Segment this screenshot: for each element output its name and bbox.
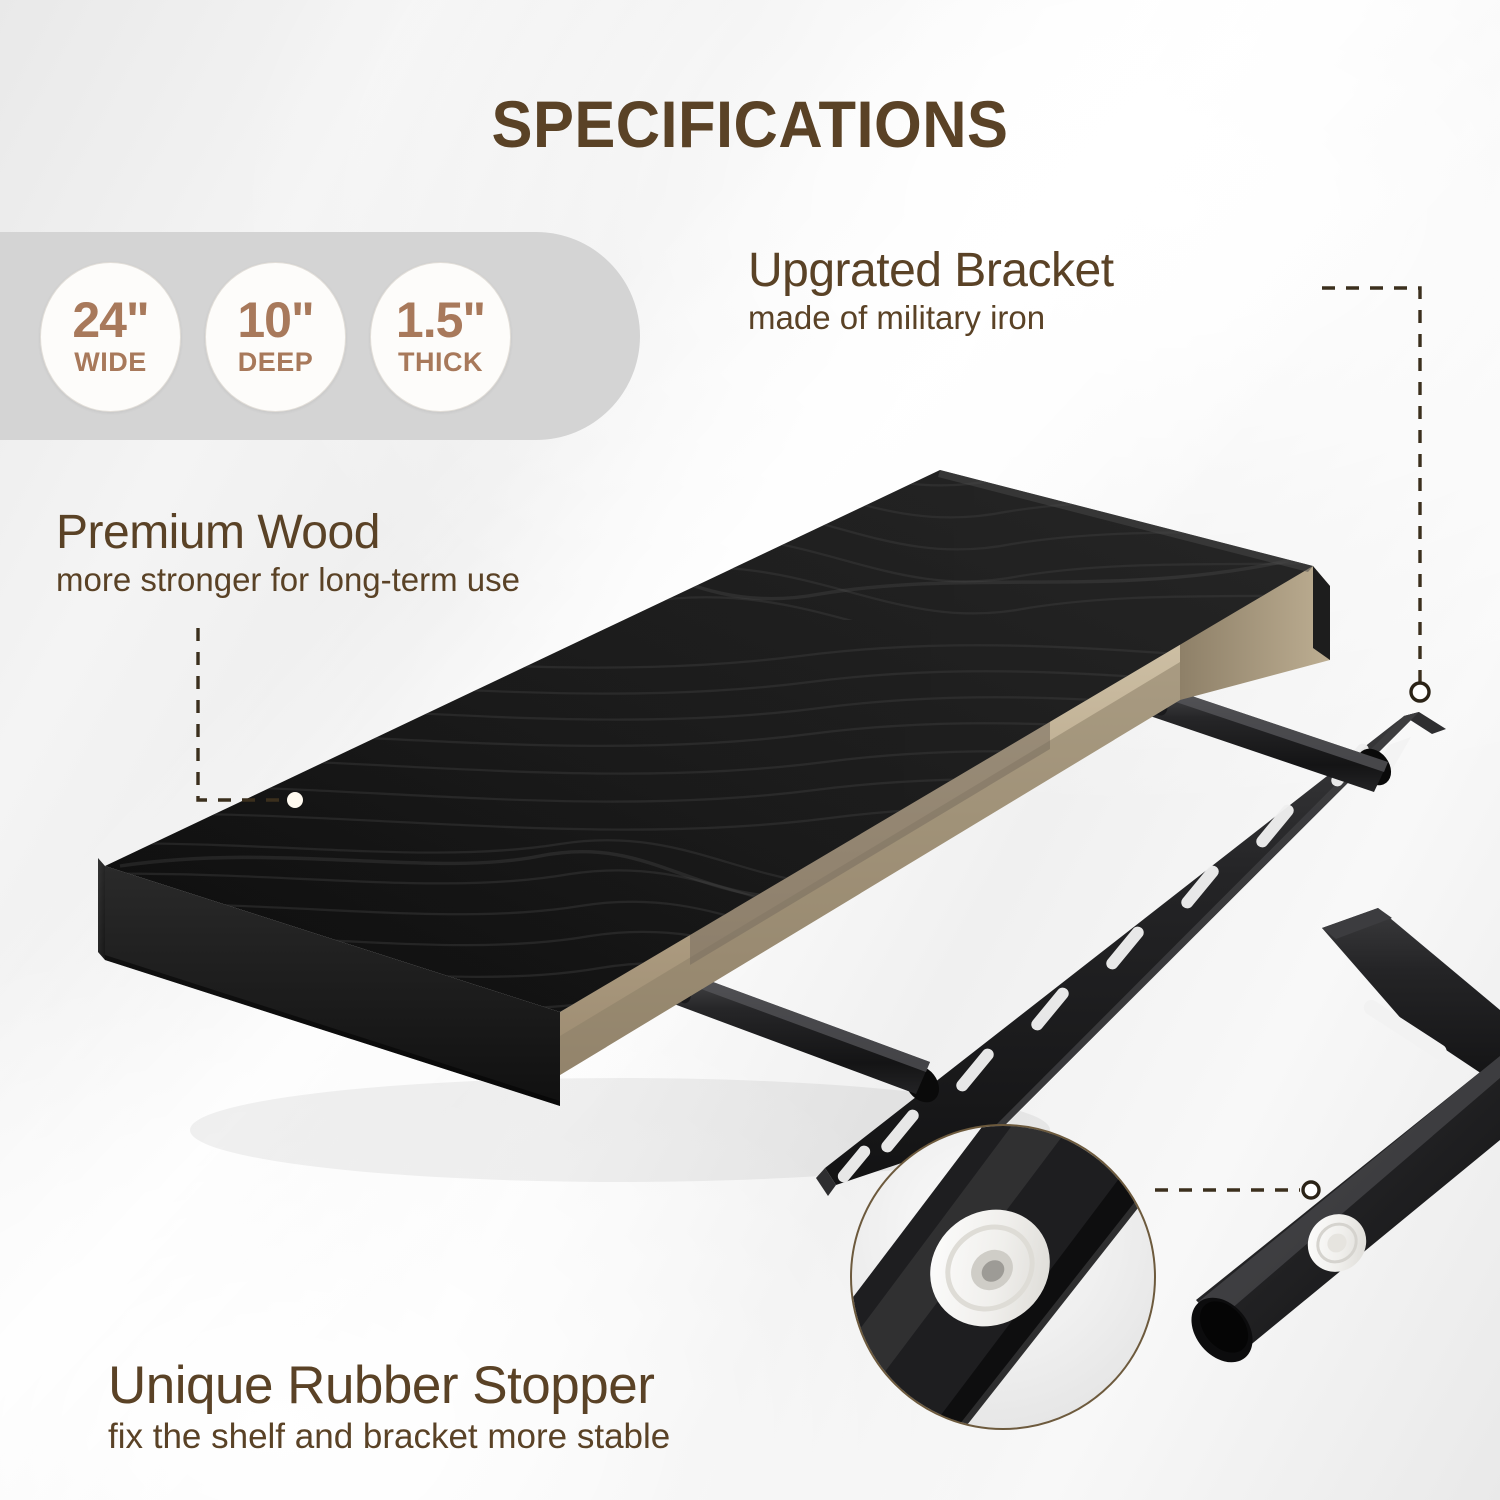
callout-stopper-subheading: fix the shelf and bracket more stable	[108, 1417, 670, 1456]
spec-badge-deep-label: DEEP	[238, 347, 314, 378]
spec-badge-group: 24" WIDE 10" DEEP 1.5" THICK	[40, 262, 511, 412]
product-spec-graphic: SPECIFICATIONS 24" WIDE 10" DEEP 1.5" TH…	[0, 0, 1500, 1500]
spec-badge-deep-value: 10"	[237, 296, 313, 345]
callout-stopper: Unique Rubber Stopper fix the shelf and …	[108, 1358, 670, 1456]
callout-wood: Premium Wood more stronger for long-term…	[56, 508, 520, 599]
spec-badge-wide-label: WIDE	[74, 347, 147, 378]
callout-wood-subheading: more stronger for long-term use	[56, 562, 520, 599]
spec-badge-thick-label: THICK	[398, 347, 483, 378]
callout-bracket-heading: Upgrated Bracket	[748, 246, 1114, 297]
page-title: SPECIFICATIONS	[53, 86, 1448, 162]
callout-bracket-subheading: made of military iron	[748, 300, 1114, 337]
callout-bracket: Upgrated Bracket made of military iron	[748, 246, 1114, 337]
spec-badge-thick-value: 1.5"	[396, 296, 485, 345]
spec-badge-wide-value: 24"	[72, 296, 148, 345]
callout-stopper-heading: Unique Rubber Stopper	[108, 1358, 670, 1414]
bracket-piece-right	[1179, 908, 1500, 1374]
product-illustration	[0, 0, 1500, 1500]
spec-badge-deep: 10" DEEP	[205, 262, 346, 412]
spec-badge-wide: 24" WIDE	[40, 262, 181, 412]
spec-badge-thick: 1.5" THICK	[370, 262, 511, 412]
callout-wood-heading: Premium Wood	[56, 508, 520, 559]
